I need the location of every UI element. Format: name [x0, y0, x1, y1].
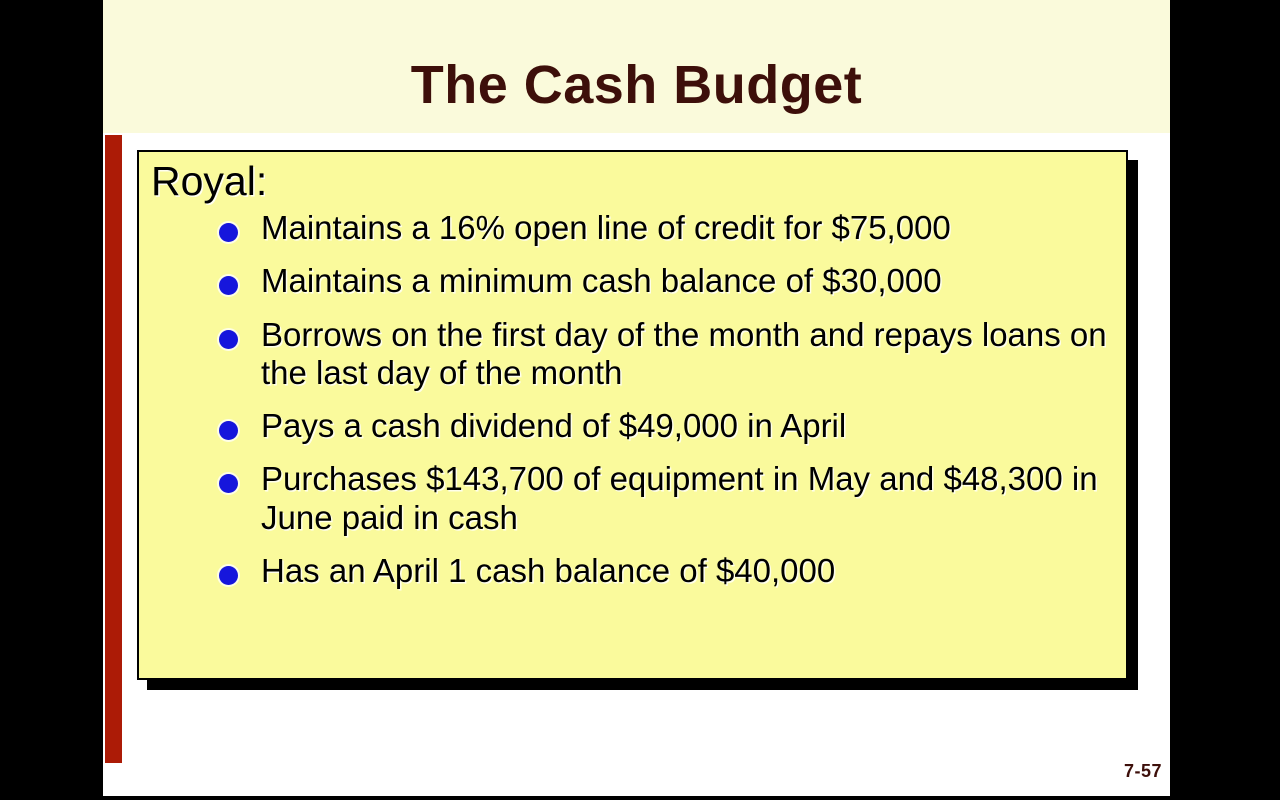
bullet-dot-icon — [219, 421, 238, 440]
bullet-list: Maintains a 16% open line of credit for … — [149, 209, 1112, 590]
list-item-text: Maintains a minimum cash balance of $30,… — [261, 262, 1112, 300]
bullet-dot-icon — [219, 566, 238, 585]
letterbox-right — [1170, 0, 1280, 800]
list-item-text: Pays a cash dividend of $49,000 in April — [261, 407, 1112, 445]
list-item-text: Maintains a 16% open line of credit for … — [261, 209, 1112, 247]
letterbox-bottom — [0, 796, 1280, 800]
list-item: Borrows on the first day of the month an… — [219, 316, 1112, 393]
page-number: 7-57 — [1124, 761, 1162, 782]
list-item: Has an April 1 cash balance of $40,000 — [219, 552, 1112, 590]
list-item: Maintains a 16% open line of credit for … — [219, 209, 1112, 247]
presentation-slide: The Cash Budget Royal: Maintains a 16% o… — [0, 0, 1280, 800]
list-item-text: Borrows on the first day of the month an… — [261, 316, 1112, 393]
bullet-dot-icon — [219, 276, 238, 295]
list-item-text: Has an April 1 cash balance of $40,000 — [261, 552, 1112, 590]
content-panel: Royal: Maintains a 16% open line of cred… — [137, 150, 1128, 680]
list-item: Pays a cash dividend of $49,000 in April — [219, 407, 1112, 445]
bullet-dot-icon — [219, 223, 238, 242]
letterbox-left — [0, 0, 103, 796]
list-item-text: Purchases $143,700 of equipment in May a… — [261, 460, 1112, 537]
left-accent-bar — [105, 135, 122, 763]
content-heading: Royal: — [151, 160, 1112, 203]
bullet-dot-icon — [219, 330, 238, 349]
page-title: The Cash Budget — [103, 58, 1170, 112]
list-item: Maintains a minimum cash balance of $30,… — [219, 262, 1112, 300]
list-item: Purchases $143,700 of equipment in May a… — [219, 460, 1112, 537]
bullet-dot-icon — [219, 474, 238, 493]
